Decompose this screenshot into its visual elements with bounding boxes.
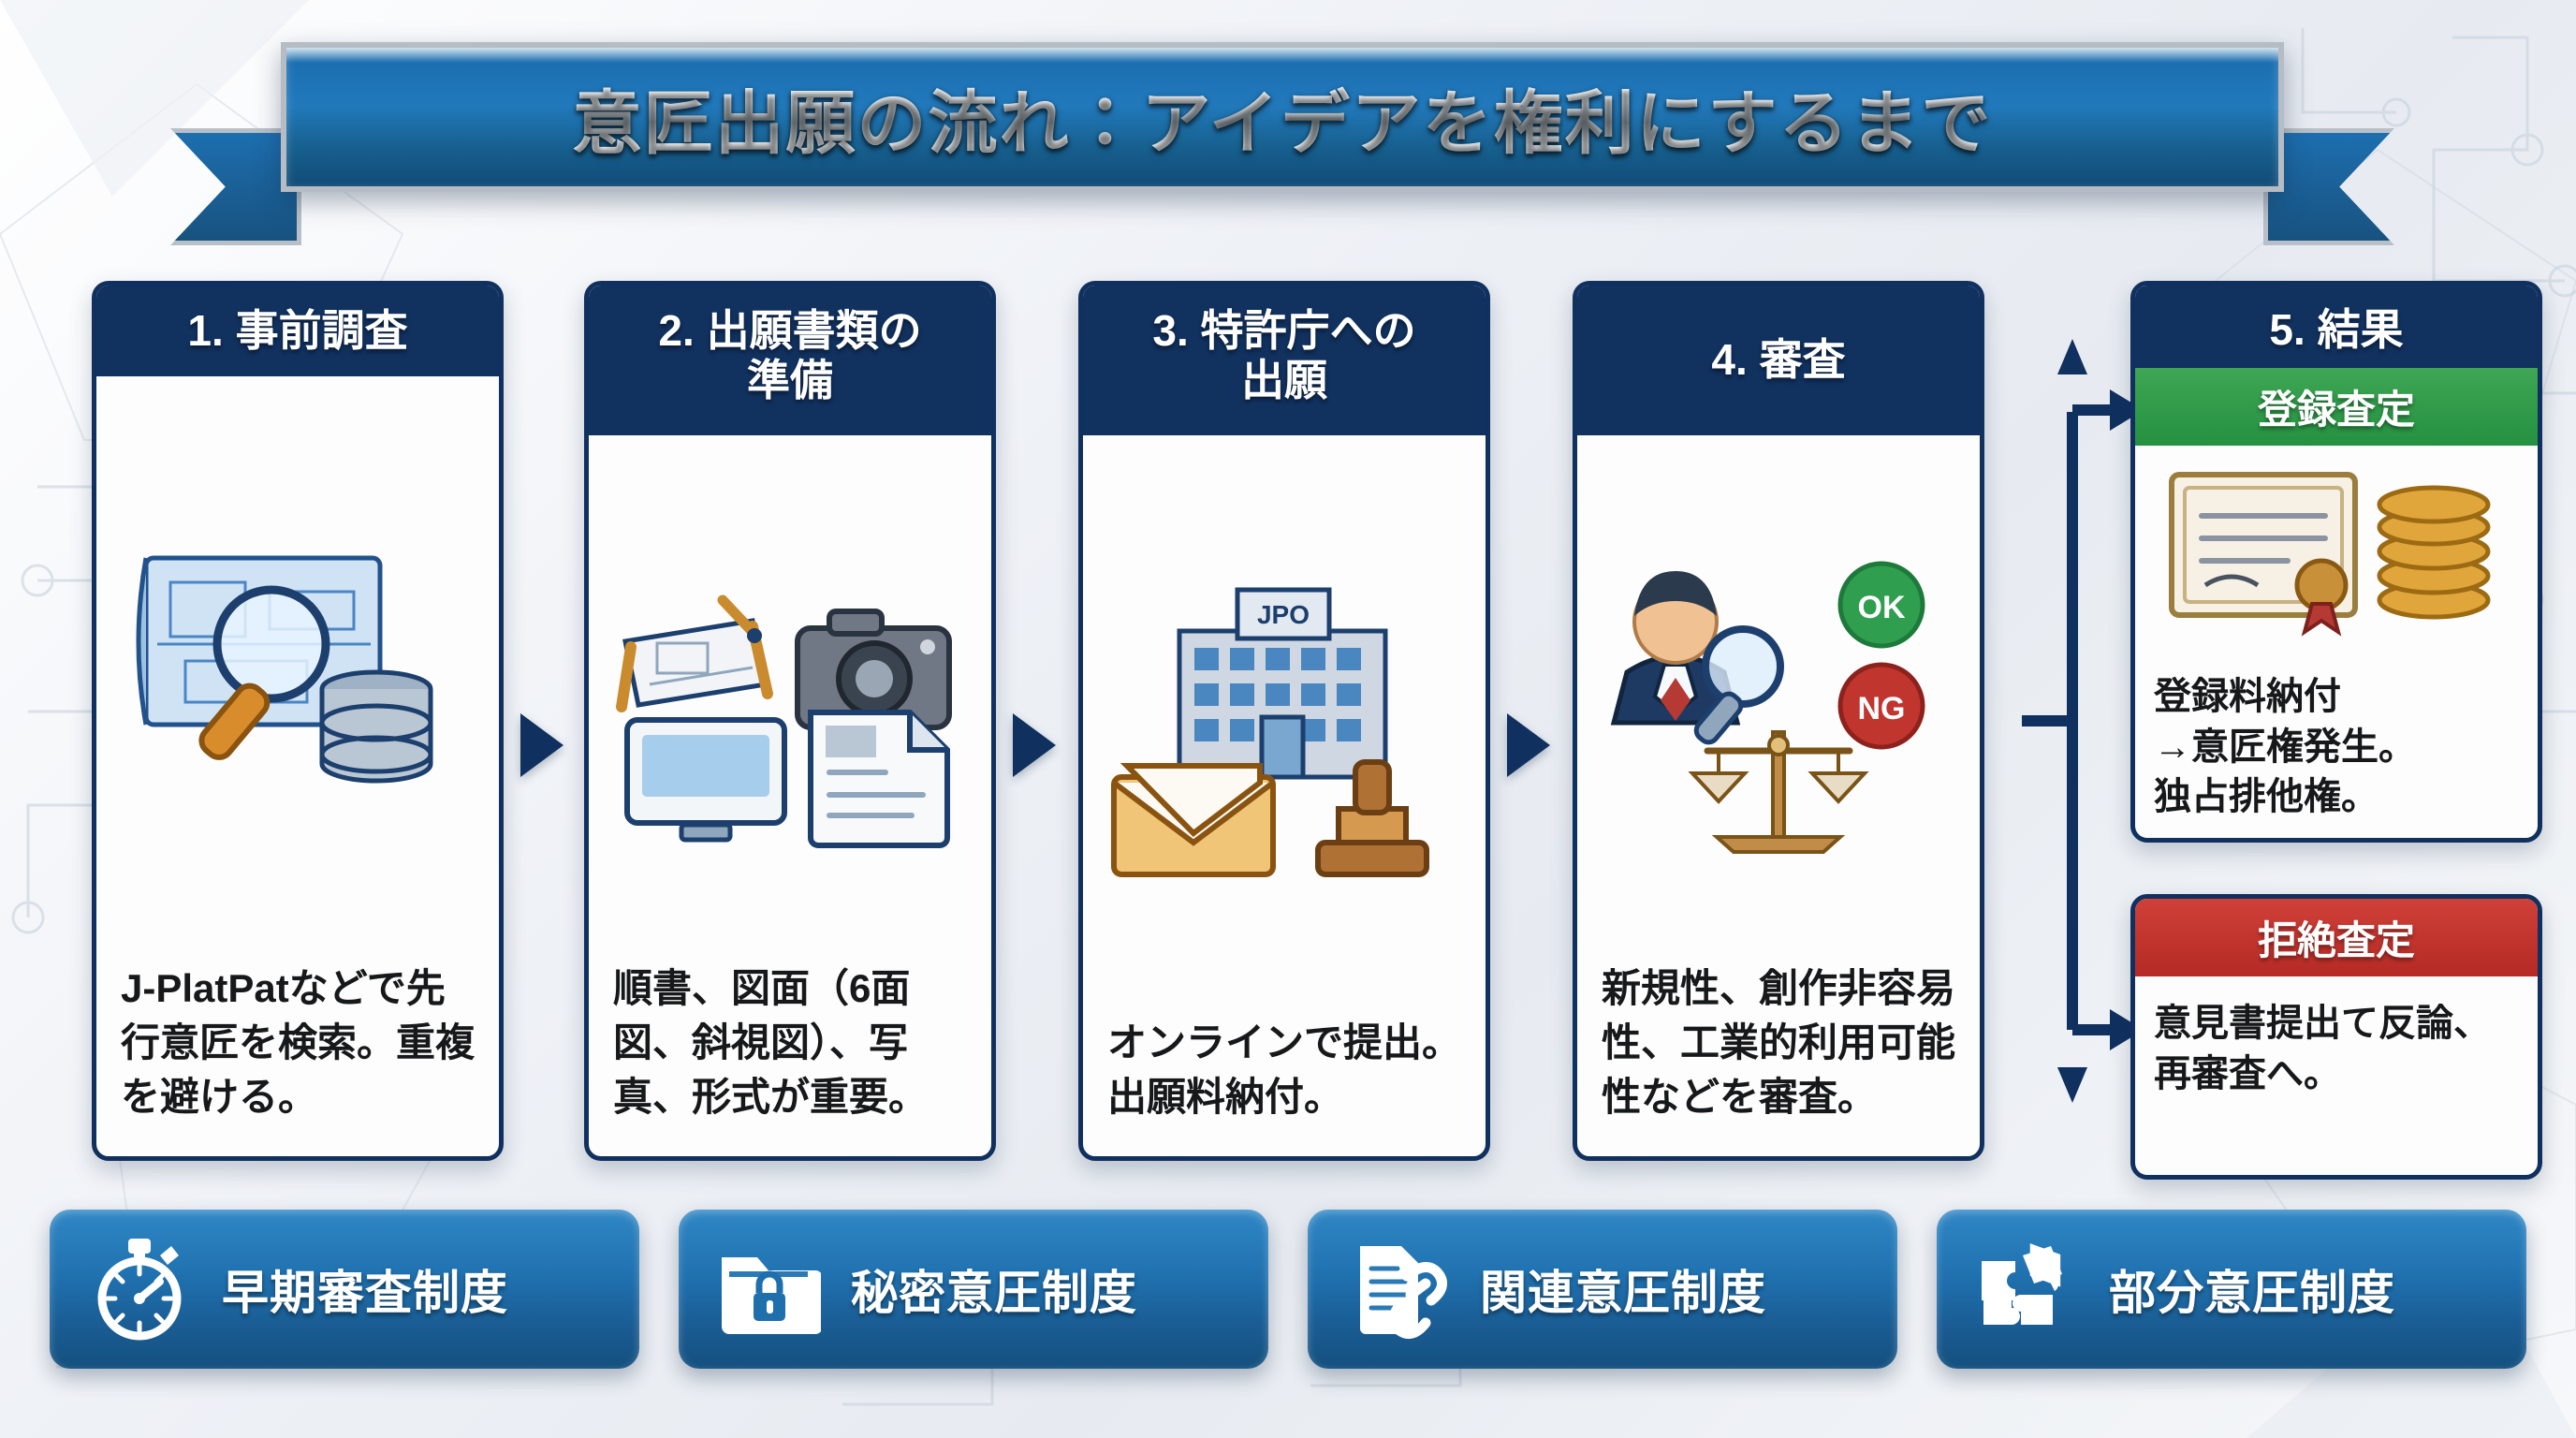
step-card-4-body: 新規性、創作非容易性、工業的利用可能性などを審査。 bbox=[1577, 961, 1980, 1156]
step-card-4[interactable]: 4. 審査 OK bbox=[1573, 281, 1984, 1161]
system-pill-related-design[interactable]: 関連意圧制度 bbox=[1308, 1210, 1897, 1369]
puzzle-icon bbox=[1974, 1237, 2079, 1342]
coins-icon bbox=[2379, 488, 2488, 617]
system-pill-label: 秘密意圧制度 bbox=[851, 1255, 1137, 1323]
system-pill-row: 早期審査制度 秘密意圧制度 bbox=[0, 1210, 2576, 1386]
reject-body: 意見書提出て反論、再審査へ。 bbox=[2135, 976, 2538, 1114]
database-icon bbox=[322, 672, 431, 781]
step-card-2[interactable]: 2. 出願書類の 準備 bbox=[584, 281, 996, 1161]
ribbon-plate: 意匠出願の流れ：アイデアを権利にするまで bbox=[281, 42, 2284, 192]
jpo-building-label: JPO bbox=[1257, 600, 1310, 629]
monitor-icon bbox=[627, 720, 784, 840]
title-banner: 意匠出願の流れ：アイデアを権利にするまで bbox=[281, 42, 2284, 215]
step-card-3-heading: 3. 特許庁への 出願 bbox=[1083, 286, 1486, 435]
result-card-approve[interactable]: 5. 結果 登録査定 bbox=[2130, 281, 2542, 843]
document-icon bbox=[811, 712, 947, 845]
certificate-icon bbox=[2172, 475, 2355, 632]
step-card-4-heading: 4. 審査 bbox=[1577, 286, 1980, 435]
folder-lock-icon bbox=[716, 1237, 821, 1342]
document-link-icon bbox=[1345, 1237, 1450, 1342]
drafting-table-icon bbox=[622, 600, 768, 707]
result-column: 5. 結果 登録査定 bbox=[2130, 281, 2542, 1180]
step-card-1[interactable]: 1. 事前調査 bbox=[92, 281, 504, 1161]
step-card-3-illustration: JPO bbox=[1083, 435, 1486, 1016]
step-card-2-heading: 2. 出願書類の 準備 bbox=[589, 286, 991, 435]
system-pill-partial-design[interactable]: 部分意圧制度 bbox=[1937, 1210, 2526, 1369]
system-pill-label: 関連意圧制度 bbox=[1480, 1255, 1766, 1323]
system-pill-label: 早期審査制度 bbox=[222, 1255, 508, 1323]
ng-badge-label: NG bbox=[1858, 691, 1906, 726]
ok-badge-icon: OK bbox=[1840, 564, 1923, 646]
system-pill-label: 部分意圧制度 bbox=[2109, 1255, 2395, 1323]
blueprint-search-illustration bbox=[129, 534, 466, 814]
jpo-submission-illustration: JPO bbox=[1106, 580, 1462, 880]
ng-badge-icon: NG bbox=[1840, 665, 1923, 747]
reject-badge: 拒絶査定 bbox=[2135, 899, 2538, 976]
system-pill-early-examination[interactable]: 早期審査制度 bbox=[50, 1210, 639, 1369]
step-card-2-body: 順書、図面（6面図、斜視図）、写真、形式が重要。 bbox=[589, 961, 991, 1156]
step-card-3[interactable]: 3. 特許庁への 出願 JPO bbox=[1078, 281, 1490, 1161]
examiner-icon bbox=[1614, 571, 1780, 746]
step-card-1-body: J-PlatPatなどで先行意匠を検索。重複を避ける。 bbox=[96, 961, 499, 1156]
page-title: 意匠出願の流れ：アイデアを権利にするまで bbox=[572, 67, 1992, 168]
approve-body: 登録料納付 →意匠権発生。 独占排他権。 bbox=[2135, 659, 2538, 838]
result-card-reject[interactable]: 拒絶査定 意見書提出て反論、再審査へ。 bbox=[2130, 894, 2542, 1180]
documents-camera-illustration bbox=[612, 553, 968, 853]
flow-arrow-3-4 bbox=[1507, 713, 1550, 777]
step-card-3-body: オンラインで提出。出願料納付。 bbox=[1083, 1016, 1486, 1156]
step-card-4-illustration: OK NG bbox=[1577, 435, 1980, 961]
step-card-1-illustration bbox=[96, 376, 499, 961]
result-heading: 5. 結果 bbox=[2135, 286, 2538, 368]
flow-arrow-2-3 bbox=[1013, 713, 1056, 777]
certificate-coins-illustration bbox=[2159, 462, 2514, 649]
scales-icon bbox=[1692, 732, 1865, 852]
ok-badge-label: OK bbox=[1858, 590, 1906, 625]
step-card-1-heading: 1. 事前調査 bbox=[96, 286, 499, 376]
step-card-2-illustration bbox=[589, 435, 991, 961]
jpo-building-icon: JPO bbox=[1179, 590, 1385, 777]
stopwatch-icon bbox=[87, 1237, 192, 1342]
envelope-icon bbox=[1114, 766, 1273, 874]
examination-illustration: OK NG bbox=[1601, 549, 1956, 858]
flow-arrow-1-2 bbox=[520, 713, 563, 777]
approve-illustration bbox=[2135, 446, 2538, 659]
system-pill-secret-design[interactable]: 秘密意圧制度 bbox=[679, 1210, 1268, 1369]
approve-badge: 登録査定 bbox=[2135, 368, 2538, 446]
